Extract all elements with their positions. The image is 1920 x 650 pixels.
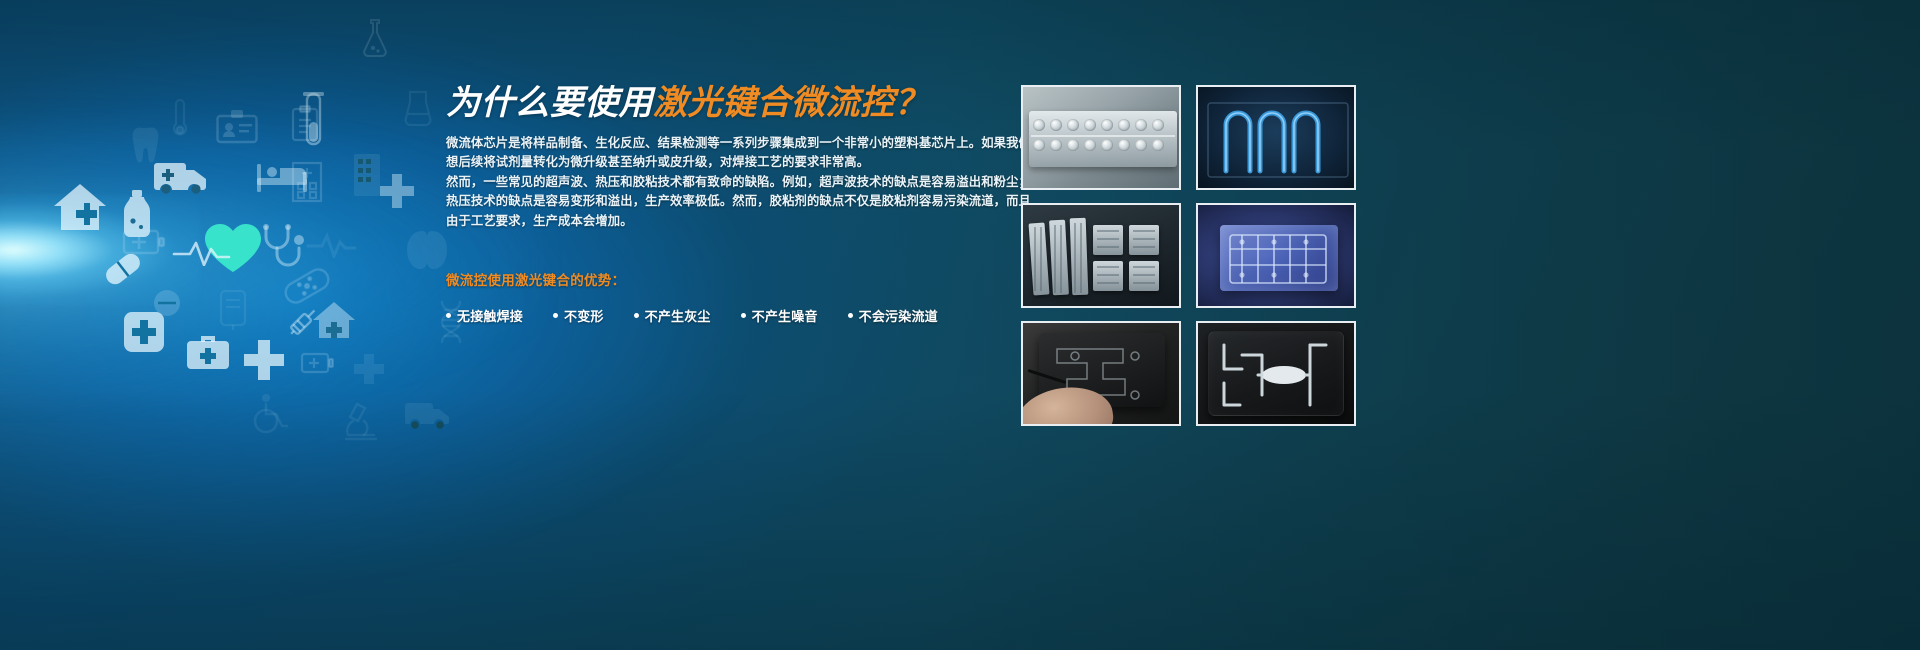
advantages-list: 无接触焊接 不变形 不产生灰尘 不产生噪音 不会污染流道 <box>446 306 1006 325</box>
promotional-banner: 为什么要使用激光键合微流控？ 微流体芯片是将样品制备、生化反应、结果检测等一系列… <box>0 0 1920 650</box>
advantage-item: 不变形 <box>553 306 604 325</box>
bullet-dot-icon <box>634 313 639 318</box>
bullet-dot-icon <box>741 313 746 318</box>
description-paragraph-2: 然而，一些常见的超声波、热压和胶粘技术都有致命的缺陷。例如，超声波技术的缺点是容… <box>446 173 1006 231</box>
photo-black-chip-in-hand[interactable] <box>1021 321 1181 426</box>
paragraph-line: 热压技术的缺点是容易变形和溢出，生产效率极低。然而，胶粘剂的缺点不仅是胶粘剂容易… <box>446 192 1006 211</box>
advantage-label: 不变形 <box>564 306 604 325</box>
advantage-label: 不产生灰尘 <box>645 306 711 325</box>
headline-orange-part: 激光键合微流控？ <box>653 84 929 122</box>
banner-text-content: 为什么要使用激光键合微流控？ 微流体芯片是将样品制备、生化反应、结果检测等一系列… <box>446 84 1006 325</box>
advantage-label: 不产生噪音 <box>752 306 818 325</box>
advantage-label: 不会污染流道 <box>859 306 938 325</box>
advantage-item: 不产生灰尘 <box>634 306 711 325</box>
photo-black-cartridge-channels[interactable] <box>1196 321 1356 426</box>
description-paragraph-1: 微流体芯片是将样品制备、生化反应、结果检测等一系列步骤集成到一个非常小的塑料基芯… <box>446 134 1006 173</box>
beam-core-light <box>0 195 200 305</box>
photo-striped-microfluidic-chips[interactable] <box>1021 203 1181 308</box>
advantages-heading: 微流控使用激光键合的优势： <box>446 269 1006 289</box>
advantage-item: 不会污染流道 <box>848 306 938 325</box>
advantage-item: 无接触焊接 <box>446 306 523 325</box>
photo-acrylic-manifold-block[interactable] <box>1196 203 1356 308</box>
page-title: 为什么要使用激光键合微流控？ <box>446 84 1006 122</box>
photo-serpentine-channel-chip[interactable] <box>1196 85 1356 190</box>
advantage-item: 不产生噪音 <box>741 306 818 325</box>
paragraph-line: 由于工艺要求，生产成本会增加。 <box>446 212 1006 231</box>
bullet-dot-icon <box>553 313 558 318</box>
bullet-dot-icon <box>446 313 451 318</box>
paragraph-line: 微流体芯片是将样品制备、生化反应、结果检测等一系列步骤集成到一个非常小的塑料基芯… <box>446 134 1006 153</box>
advantage-label: 无接触焊接 <box>457 306 523 325</box>
bullet-dot-icon <box>848 313 853 318</box>
paragraph-line: 然而，一些常见的超声波、热压和胶粘技术都有致命的缺陷。例如，超声波技术的缺点是容… <box>446 173 1006 192</box>
headline-white-part: 为什么要使用 <box>446 84 653 122</box>
paragraph-line: 想后续将试剂量转化为微升级甚至纳升或皮升级，对焊接工艺的要求非常高。 <box>446 153 1006 172</box>
product-photo-grid <box>1021 85 1356 426</box>
photo-microfluidic-chip-wells[interactable] <box>1021 85 1181 190</box>
